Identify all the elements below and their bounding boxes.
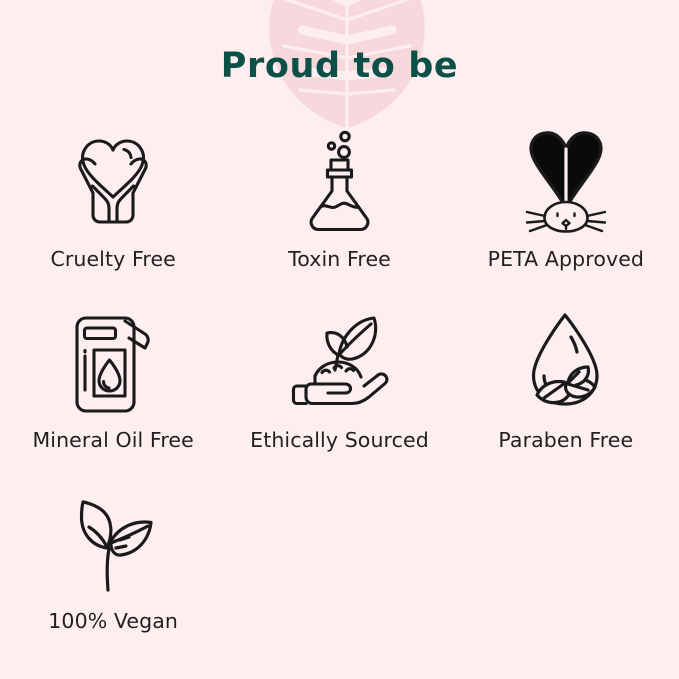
badge-item-100-percent-vegan: 100% Vegan xyxy=(0,490,226,671)
badge-label: Toxin Free xyxy=(288,247,391,271)
sprout-two-leaves-icon xyxy=(63,490,163,598)
hands-holding-heart-icon xyxy=(62,128,164,236)
badge-item-paraben-free: Paraben Free xyxy=(453,309,679,490)
badge-label: 100% Vegan xyxy=(48,609,178,633)
badge-item-toxin-free: Toxin Free xyxy=(226,128,452,309)
hand-sprout-soil-icon xyxy=(286,309,392,417)
proud-to-be-badge-panel: Proud to be Cruelty Free xyxy=(0,0,679,679)
badge-label: Mineral Oil Free xyxy=(32,428,193,452)
badge-label: Paraben Free xyxy=(498,428,633,452)
badge-grid: Cruelty Free Toxin Free xyxy=(0,128,679,671)
jerry-can-droplet-icon xyxy=(67,309,159,417)
badge-label: Cruelty Free xyxy=(50,247,175,271)
badge-item-cruelty-free: Cruelty Free xyxy=(0,128,226,309)
badge-item-mineral-oil-free: Mineral Oil Free xyxy=(0,309,226,490)
droplet-leaves-icon xyxy=(518,309,614,417)
badge-label: PETA Approved xyxy=(488,247,644,271)
badge-label: Ethically Sourced xyxy=(250,428,429,452)
page-title: Proud to be xyxy=(0,46,679,86)
badge-item-peta-approved: PETA Approved xyxy=(453,128,679,309)
badge-item-ethically-sourced: Ethically Sourced xyxy=(226,309,452,490)
bunny-heart-ears-icon xyxy=(516,128,616,236)
flask-bubbles-icon xyxy=(300,128,378,236)
